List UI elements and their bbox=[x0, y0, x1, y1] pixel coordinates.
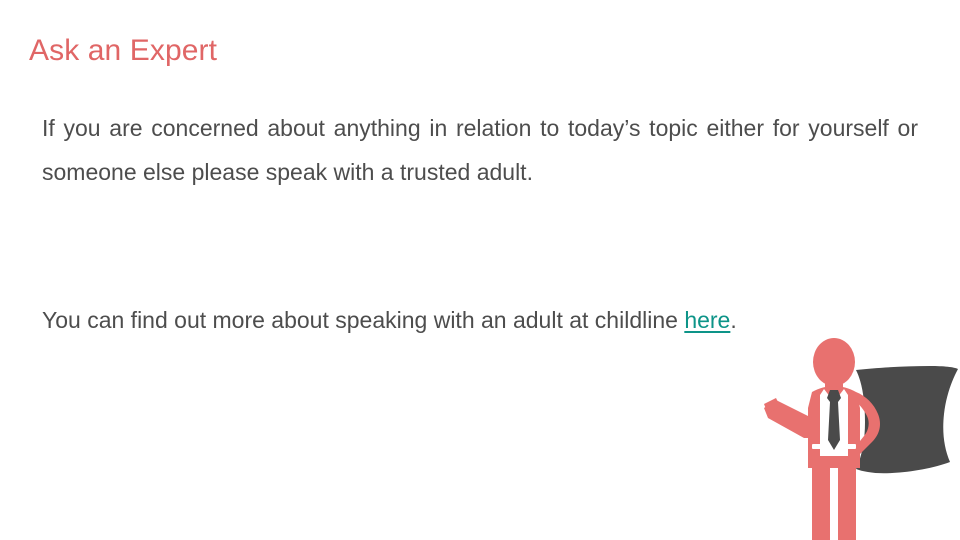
slide-canvas: Ask an Expert If you are concerned about… bbox=[0, 0, 960, 540]
paragraph-one: If you are concerned about anything in r… bbox=[42, 106, 918, 194]
paragraph-two-trailing-text: . bbox=[730, 307, 736, 333]
tie-shape bbox=[827, 390, 841, 450]
superhero-businessman-illustration bbox=[752, 332, 960, 540]
left-leg-shape bbox=[812, 466, 830, 540]
right-leg-shape bbox=[838, 466, 856, 540]
childline-here-link[interactable]: here bbox=[684, 307, 730, 333]
page-title: Ask an Expert bbox=[29, 31, 217, 71]
paragraph-two-lead-text: You can find out more about speaking wit… bbox=[42, 307, 684, 333]
head-shape bbox=[813, 338, 855, 386]
left-pocket-shape bbox=[812, 444, 824, 449]
body-text-block: If you are concerned about anything in r… bbox=[42, 106, 918, 194]
leg-gap-shape bbox=[830, 472, 838, 540]
right-pocket-shape bbox=[844, 444, 856, 449]
